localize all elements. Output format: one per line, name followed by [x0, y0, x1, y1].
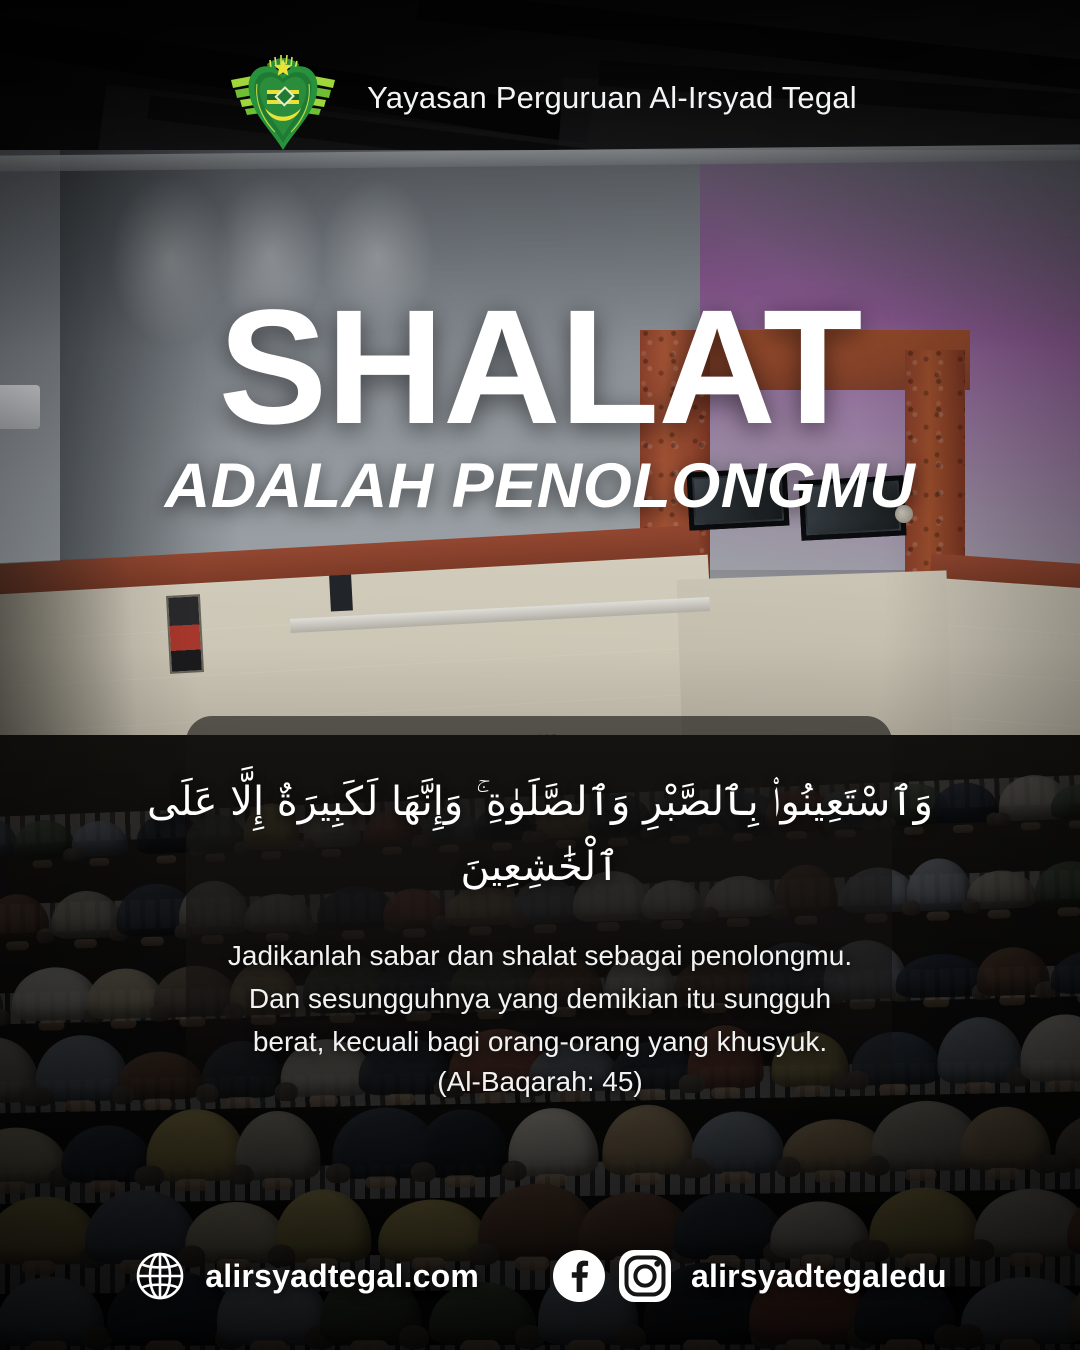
headline-main: SHALAT [0, 292, 1080, 442]
globe-icon[interactable] [133, 1249, 187, 1303]
footer: alirsyadtegal.com alirsyadtegaledu [0, 1248, 1080, 1304]
verse-translation-line-1: Jadikanlah sabar dan shalat sebagai peno… [90, 934, 990, 977]
instagram-icon[interactable] [617, 1248, 673, 1304]
verse-block: وَٱسْتَعِينُوا۟ بِٱلصَّبْرِ وَٱلصَّلَوٰة… [90, 770, 990, 1098]
headline-block: SHALAT ADALAH PENOLONGMU [0, 292, 1080, 522]
al-irsyad-shield-logo [223, 38, 343, 158]
background-photo [0, 0, 1080, 1350]
poster: Yayasan Perguruan Al-Irsyad Tegal SHALAT… [0, 0, 1080, 1350]
brand-header: Yayasan Perguruan Al-Irsyad Tegal [0, 38, 1080, 158]
website-label[interactable]: alirsyadtegal.com [205, 1258, 479, 1295]
verse-reference: (Al-Baqarah: 45) [90, 1066, 990, 1098]
facebook-icon[interactable] [551, 1248, 607, 1304]
verse-translation-line-2: Dan sesungguhnya yang demikian itu sungg… [90, 977, 990, 1020]
headline-sub: ADALAH PENOLONGMU [0, 450, 1080, 522]
brand-name: Yayasan Perguruan Al-Irsyad Tegal [367, 80, 857, 116]
verse-translation-line-3: berat, kecuali bagi orang-orang yang khu… [90, 1020, 990, 1063]
social-handle-label[interactable]: alirsyadtegaledu [691, 1258, 947, 1295]
verse-arabic: وَٱسْتَعِينُوا۟ بِٱلصَّبْرِ وَٱلصَّلَوٰة… [90, 770, 990, 900]
